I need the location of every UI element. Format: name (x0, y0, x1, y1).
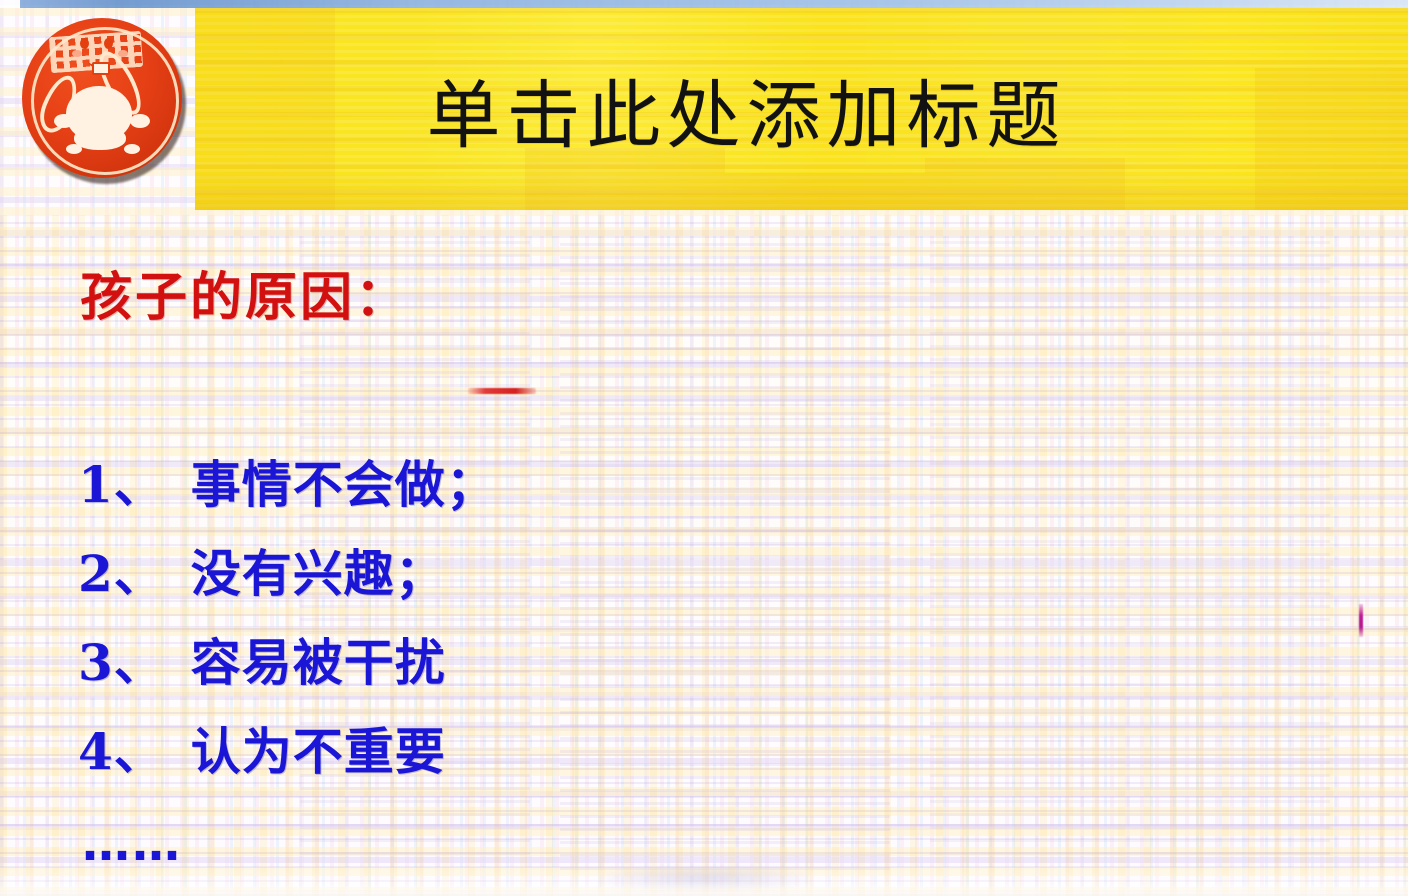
rabbit-blush-left-icon (72, 50, 82, 57)
rabbit-blush-right-icon (118, 50, 128, 57)
reasons-list: 1、事情不会做； 2、没有兴趣； 3、容易被干扰 4、认为不重要 (78, 440, 778, 796)
list-item-number: 2、 (78, 529, 165, 618)
list-item-number: 1、 (78, 440, 165, 529)
list-item: 4、认为不重要 (78, 707, 778, 796)
rabbit-foot-left-icon (66, 144, 82, 154)
section-heading: 孩子的原因： (80, 255, 410, 330)
rabbit-arm-right-icon (130, 114, 150, 128)
list-item-number: 3、 (78, 618, 165, 707)
list-item: 1、事情不会做； (78, 440, 778, 529)
list-item-label: 容易被干扰 (191, 633, 446, 692)
watermark-block-right (930, 235, 1330, 855)
scan-artifact-magenta-tick (1359, 604, 1363, 637)
rabbit-head-icon (66, 86, 132, 142)
list-item: 3、容易被干扰 (78, 618, 778, 707)
list-item-label: 没有兴趣； (191, 544, 446, 603)
rabbit-eye-right-icon (104, 38, 113, 49)
list-item: 2、没有兴趣； (78, 529, 778, 618)
title-banner: 单击此处添加标题 (195, 8, 1408, 210)
list-item-number: 4、 (78, 707, 165, 796)
top-scan-line (0, 0, 1408, 8)
scan-artifact-red-dash (468, 388, 536, 394)
page-title: 单击此处添加标题 (195, 8, 1408, 210)
slide-canvas: 单击此处添加标题 孩子的原因： 1、事情不会做； (0, 0, 1408, 896)
rabbit-eye-left-icon (80, 38, 89, 49)
rabbit-stamp-logo (20, 16, 192, 188)
list-item-label: 事情不会做； (191, 455, 497, 514)
list-ellipsis: …… (82, 820, 182, 868)
rabbit-foot-right-icon (124, 144, 140, 154)
list-item-label: 认为不重要 (191, 722, 446, 781)
logo-disc (22, 18, 182, 178)
scan-artifact-smudge (600, 866, 810, 892)
rabbit-teeth-icon (92, 62, 110, 75)
